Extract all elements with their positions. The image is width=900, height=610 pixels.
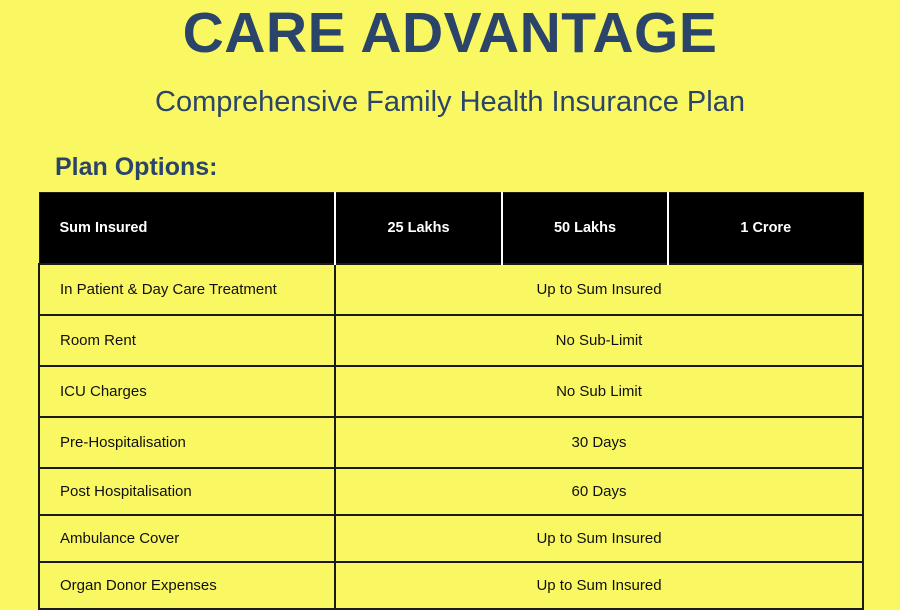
benefit-value-cell: No Sub-Limit [335,315,863,366]
section-heading-plan-options: Plan Options: [55,150,218,184]
benefit-name-cell: Organ Donor Expenses [39,562,335,609]
table-body: In Patient & Day Care TreatmentUp to Sum… [39,264,863,609]
page-subtitle: Comprehensive Family Health Insurance Pl… [0,82,900,122]
column-header-plan-25-lakhs: 25 Lakhs [335,193,502,265]
benefit-value-cell: 30 Days [335,417,863,468]
benefit-value-cell: Up to Sum Insured [335,515,863,562]
table-row: Room RentNo Sub-Limit [39,315,863,366]
table-row: Post Hospitalisation60 Days [39,468,863,515]
benefit-name-cell: ICU Charges [39,366,335,417]
column-header-plan-1-crore: 1 Crore [668,193,863,265]
benefit-value-cell: No Sub Limit [335,366,863,417]
benefit-value-cell: 60 Days [335,468,863,515]
column-header-plan-50-lakhs: 50 Lakhs [502,193,668,265]
benefit-value-cell: Up to Sum Insured [335,562,863,609]
benefit-name-cell: Ambulance Cover [39,515,335,562]
table-row: ICU ChargesNo Sub Limit [39,366,863,417]
table-row: Ambulance CoverUp to Sum Insured [39,515,863,562]
page-title: CARE ADVANTAGE [0,0,900,68]
plan-brochure-page: CARE ADVANTAGE Comprehensive Family Heal… [0,0,900,600]
benefit-name-cell: Post Hospitalisation [39,468,335,515]
benefit-value-cell: Up to Sum Insured [335,264,863,315]
table-row: Organ Donor ExpensesUp to Sum Insured [39,562,863,609]
benefit-name-cell: In Patient & Day Care Treatment [39,264,335,315]
table-row: In Patient & Day Care TreatmentUp to Sum… [39,264,863,315]
benefit-name-cell: Room Rent [39,315,335,366]
column-header-sum-insured: Sum Insured [39,193,335,265]
table-header: Sum Insured 25 Lakhs 50 Lakhs 1 Crore [39,193,863,265]
table-header-row: Sum Insured 25 Lakhs 50 Lakhs 1 Crore [39,193,863,265]
benefit-name-cell: Pre-Hospitalisation [39,417,335,468]
plan-options-table: Sum Insured 25 Lakhs 50 Lakhs 1 Crore In… [38,192,864,610]
table-row: Pre-Hospitalisation30 Days [39,417,863,468]
